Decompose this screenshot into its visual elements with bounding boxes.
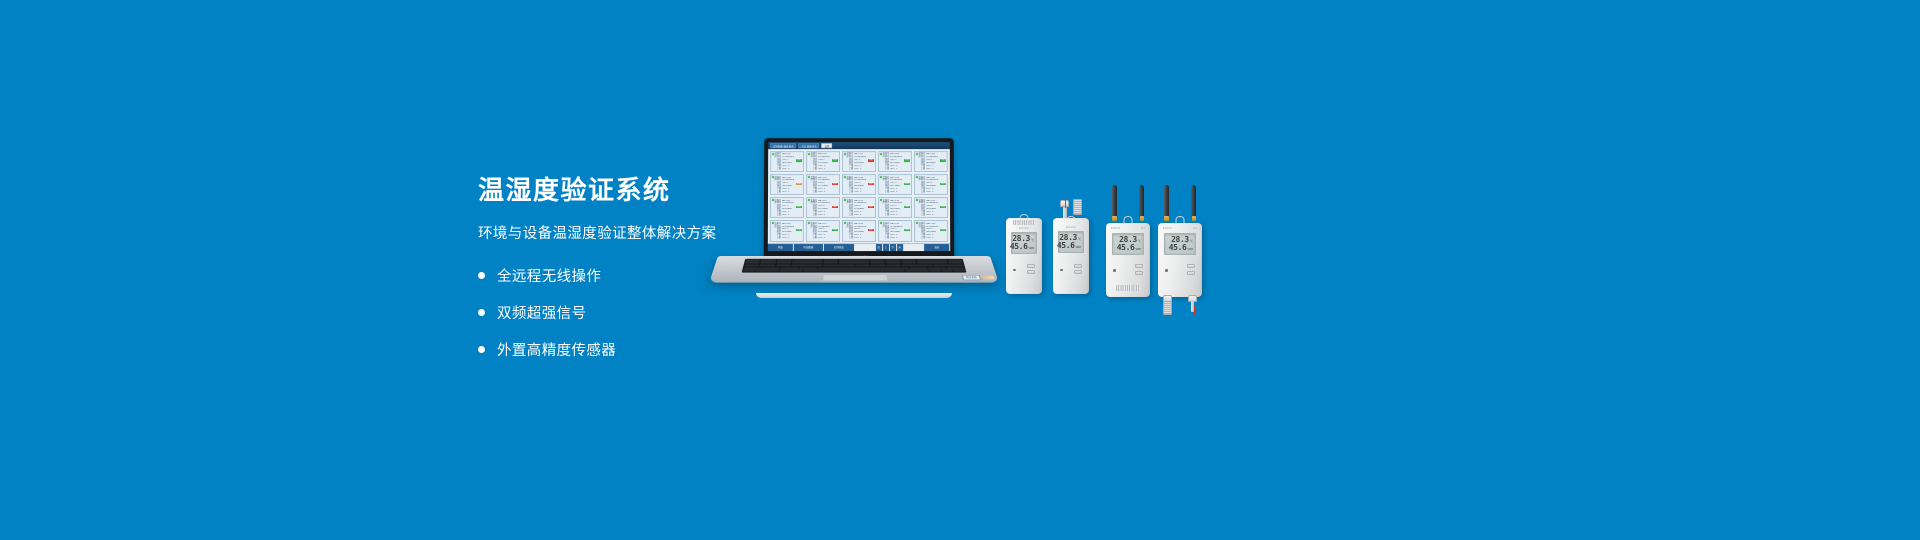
lcd-display: 28.3 ℃ 45.6 %RH — [1011, 232, 1037, 254]
antenna-left-icon — [1164, 185, 1169, 218]
logger-body: ENOIN 28.3 ℃ 45.6 %RH — [1053, 218, 1089, 294]
field-key: 上限 — [808, 237, 817, 240]
lcd-humidity-value: 45.6 — [1117, 244, 1135, 252]
keyboard-key[interactable] — [743, 270, 755, 272]
sensor-card[interactable]: 监测点20设备号HE-T120序列号1123400020温度23.9℃正常湿度4… — [914, 220, 949, 242]
lcd-temperature-unit: ℃ — [1138, 240, 1141, 243]
probe-wire — [1194, 305, 1195, 315]
sensor-card[interactable]: 监测点01设备号HE-T101序列号1123400001温度23.4℃正常湿度4… — [770, 151, 805, 173]
bullet-dot-icon — [478, 309, 485, 316]
device-button-up[interactable] — [1074, 264, 1082, 268]
device-wireless-logger-dual-antenna: ENOIN H3 28.3 ℃ 45.6 %RH — [1106, 185, 1150, 297]
device-button-group[interactable] — [1187, 264, 1195, 275]
field-value: 25.0 ℃ — [782, 168, 802, 171]
sensor-card-field: 上限25.0 ℃ — [844, 214, 874, 217]
vent-grille-icon — [1116, 285, 1140, 291]
lcd-humidity-unit: %RH — [1135, 248, 1140, 251]
field-key: 上限 — [916, 214, 925, 217]
sensor-card-field: 上限25.0 ℃ — [916, 191, 946, 194]
sensor-card-field: 上限25.0 ℃ — [844, 191, 874, 194]
sensor-card[interactable]: 监测点19设备号HE-T119序列号1123400019温度23.2℃正常湿度4… — [878, 220, 913, 242]
sensor-card-field: 上限25.0 ℃ — [772, 237, 802, 240]
device-data-logger-probe: ENOIN 28.3 ℃ 45.6 %RH — [1053, 198, 1089, 294]
lcd-humidity-unit: %RH — [1076, 246, 1081, 249]
antenna-right-icon — [1191, 185, 1196, 218]
laptop-front-lip — [756, 293, 952, 298]
lcd-temperature-unit: ℃ — [1031, 239, 1034, 242]
antenna-left-connector — [1112, 216, 1117, 221]
feature-label: 全远程无线操作 — [497, 265, 601, 286]
feature-label: 双频超强信号 — [497, 302, 586, 323]
device-button-up[interactable] — [1135, 264, 1143, 268]
field-key: 上限 — [772, 191, 781, 194]
device-button-group[interactable] — [1074, 264, 1082, 275]
field-key: 上限 — [844, 168, 853, 171]
sensor-card-field: 上限25.0 ℃ — [808, 168, 838, 171]
feature-label: 外置高精度传感器 — [497, 339, 616, 360]
field-value: 25.0 ℃ — [926, 214, 946, 217]
field-value: 25.0 ℃ — [926, 191, 946, 194]
device-data-logger-basic: ENOIN 28.3 ℃ 45.6 %RH — [1006, 218, 1042, 294]
lcd-display: 28.3 ℃ 45.6 %RH — [1058, 231, 1084, 253]
field-key: 上限 — [808, 191, 817, 194]
promo-banner: 温湿度验证系统 环境与设备温湿度验证整体解决方案 全远程无线操作 双频超强信号 … — [0, 0, 1920, 540]
laptop-screen: 实时数据 曲线 报表 历史 数据查询 设置 监测点01设备号HE-T101序列号… — [768, 142, 950, 251]
keyboard-row — [743, 270, 966, 272]
field-value: 25.0 ℃ — [854, 168, 874, 171]
lcd-humidity-row: 45.6 %RH — [1167, 244, 1193, 252]
sensor-card[interactable]: 监测点06设备号HE-T106序列号1123400006温度24.5℃预警湿度5… — [770, 174, 805, 196]
antenna-left-connector — [1164, 216, 1169, 221]
sensor-card[interactable]: 监测点07设备号HE-T107序列号1123400007温度23.3℃超限湿度4… — [806, 174, 841, 196]
bullet-dot-icon — [478, 272, 485, 279]
toolbar-export-button[interactable]: 导出数据 — [794, 244, 825, 251]
lcd-temperature-unit: ℃ — [1190, 240, 1193, 243]
page-prev-button[interactable]: 上 — [883, 244, 890, 251]
lcd-humidity-unit: %RH — [1187, 248, 1192, 251]
list-item: 双频超强信号 — [478, 302, 808, 323]
field-value: 25.0 ℃ — [890, 191, 910, 194]
field-key: 上限 — [844, 214, 853, 217]
keyboard-key[interactable] — [906, 270, 929, 272]
page-next-button[interactable]: 下 — [890, 244, 897, 251]
sensor-card[interactable]: 监测点08设备号HE-T108序列号1123400008温度23.9℃超限湿度4… — [842, 174, 877, 196]
laptop-keyboard[interactable] — [742, 259, 967, 273]
lcd-humidity-value: 45.6 — [1010, 243, 1028, 251]
app-toolbar: 开始 导出数据 打印报告 首 上 下 末 退出 — [768, 243, 950, 251]
field-value: 25.0 ℃ — [782, 191, 802, 194]
field-value: 25.0 ℃ — [782, 214, 802, 217]
device-label-row: ENOIN H3 — [1163, 227, 1197, 230]
field-value: 25.0 ℃ — [818, 191, 838, 194]
status-led-icon — [1113, 269, 1116, 272]
device-button-group[interactable] — [1135, 264, 1143, 275]
device-model: H3 — [1141, 227, 1145, 230]
sensor-card[interactable]: 监测点10设备号HE-T110序列号1123400010温度24.0℃正常湿度4… — [914, 174, 949, 196]
device-brand: ENOIN — [1019, 227, 1029, 230]
field-value: 25.0 ℃ — [926, 237, 946, 240]
sensor-card-field: 上限25.0 ℃ — [844, 168, 874, 171]
toolbar-spacer — [904, 244, 925, 251]
probe-mesh-filter — [1163, 301, 1172, 315]
app-titlebar: 实时数据 曲线 报表 历史 数据查询 设置 — [768, 142, 950, 149]
sensor-card-field: 上限25.0 ℃ — [772, 214, 802, 217]
antenna-right-icon — [1139, 185, 1144, 218]
laptop-product-image: 实时数据 曲线 报表 历史 数据查询 设置 监测点01设备号HE-T101序列号… — [718, 138, 990, 298]
tab-realtime[interactable]: 实时数据 曲线 报表 — [770, 143, 796, 148]
keyboard-key[interactable] — [941, 270, 953, 272]
antenna-right-connector — [1140, 216, 1145, 221]
laptop-trackpad[interactable] — [822, 274, 888, 281]
device-wireless-logger-dual-antenna-probe: ENOIN H3 28.3 ℃ 45.6 %RH — [1158, 185, 1202, 315]
keyboard-key[interactable] — [954, 270, 966, 272]
device-button-down[interactable] — [1135, 271, 1143, 275]
laptop-lid: 实时数据 曲线 报表 历史 数据查询 设置 监测点01设备号HE-T101序列号… — [764, 138, 955, 260]
toolbar-exit-button[interactable]: 退出 — [924, 244, 950, 251]
sensor-card[interactable]: 监测点11设备号HE-T111序列号1123400011温度23.7℃正常湿度4… — [769, 197, 804, 219]
field-key: 上限 — [844, 191, 853, 194]
device-label-row: ENOIN H3 — [1111, 227, 1145, 230]
field-value: 25.0 ℃ — [818, 168, 838, 171]
logger-body: ENOIN H3 28.3 ℃ 45.6 %RH — [1158, 223, 1202, 297]
sensor-card-field: 上限25.0 ℃ — [808, 214, 838, 217]
keyboard-key[interactable] — [767, 270, 779, 272]
device-button-group[interactable] — [1027, 264, 1035, 275]
status-led-icon — [1013, 269, 1016, 272]
sensor-card[interactable]: 监测点17设备号HE-T117序列号1123400017温度23.4℃正常湿度4… — [805, 220, 840, 242]
tab-settings[interactable]: 设置 — [822, 143, 833, 148]
sensor-card-field: 上限25.0 ℃ — [808, 237, 838, 240]
keyboard-key[interactable] — [929, 270, 941, 272]
probe-wire — [1065, 199, 1066, 208]
sensor-card[interactable]: 监测点18设备号HE-T118序列号1123400018温度24.6℃超限湿度5… — [842, 220, 877, 242]
lcd-humidity-unit: %RH — [1029, 247, 1034, 250]
probe-mesh-filter — [1073, 199, 1082, 215]
sensor-card[interactable]: 监测点15设备号HE-T115序列号1123400015温度23.8℃正常湿度4… — [914, 197, 949, 219]
field-value: 25.0 ℃ — [890, 168, 910, 171]
list-item: 外置高精度传感器 — [478, 339, 808, 360]
sensor-card[interactable]: 监测点14设备号HE-T114序列号1123400014温度23.0℃正常湿度4… — [878, 197, 913, 219]
field-value: 25.0 ℃ — [890, 237, 910, 240]
device-button-down[interactable] — [1187, 271, 1195, 275]
lcd-humidity-row: 45.6 %RH — [1115, 244, 1141, 252]
device-button-down[interactable] — [1074, 270, 1082, 274]
field-key: 上限 — [916, 168, 925, 171]
field-value: 25.0 ℃ — [926, 168, 946, 171]
toolbar-spacer — [855, 244, 876, 251]
antenna-left-icon — [1112, 185, 1117, 218]
tab-history[interactable]: 历史 数据查询 — [799, 143, 820, 148]
device-brand: ENOIN — [1066, 226, 1076, 229]
sensor-card-field: 上限25.0 ℃ — [916, 237, 946, 240]
sensor-card-field: 上限25.0 ℃ — [772, 168, 802, 171]
sensor-card[interactable]: 监测点05设备号HE-T105序列号1123400005温度23.8℃正常湿度4… — [914, 151, 949, 173]
field-key: 上限 — [772, 168, 781, 171]
keyboard-key[interactable] — [803, 270, 905, 272]
device-button-up[interactable] — [1027, 264, 1035, 268]
sensor-card-field: 上限25.0 ℃ — [808, 191, 838, 194]
field-key: 上限 — [808, 168, 817, 171]
logger-body: ENOIN H3 28.3 ℃ 45.6 %RH — [1106, 223, 1150, 297]
vent-grille-icon — [1013, 220, 1035, 225]
field-value: 25.0 ℃ — [782, 237, 802, 240]
toolbar-start-button[interactable]: 开始 — [768, 244, 794, 251]
keyboard-key[interactable] — [755, 270, 767, 272]
sensor-card-field: 上限25.0 ℃ — [772, 191, 802, 194]
sensor-card-field: 上限25.0 ℃ — [880, 168, 910, 171]
device-brand: ENOIN — [1111, 227, 1121, 230]
field-key: 上限 — [844, 237, 853, 240]
lcd-display: 28.3 ℃ 45.6 %RH — [1112, 233, 1144, 255]
field-key: 上限 — [916, 237, 925, 240]
laptop-base: 验证系统 — [709, 256, 999, 283]
sensor-card[interactable]: 监测点13设备号HE-T113序列号1123400013温度23.5℃超限湿度4… — [842, 197, 877, 219]
field-key: 上限 — [772, 237, 781, 240]
page-first-button[interactable]: 首 — [876, 244, 883, 251]
lcd-temperature-unit: ℃ — [1078, 238, 1081, 241]
field-key: 上限 — [880, 214, 889, 217]
laptop-sticker-secondary — [982, 276, 995, 280]
hanging-hook-icon — [1176, 216, 1185, 223]
page-last-button[interactable]: 末 — [897, 244, 904, 251]
logger-body: ENOIN 28.3 ℃ 45.6 %RH — [1006, 218, 1042, 294]
field-key: 上限 — [808, 214, 817, 217]
sensor-card[interactable]: 监测点09设备号HE-T109序列号1123400009温度23.1℃正常湿度4… — [878, 174, 913, 196]
keyboard-key[interactable] — [779, 270, 802, 272]
lcd-humidity-value: 45.6 — [1169, 244, 1187, 252]
sensor-card[interactable]: 监测点03设备号HE-T103序列号1123400003温度24.1℃超限湿度4… — [842, 151, 877, 173]
sensor-card-field: 上限25.0 ℃ — [916, 214, 946, 217]
sensor-card-field: 上限25.0 ℃ — [844, 237, 874, 240]
sensor-card-grid: 监测点01设备号HE-T101序列号1123400001温度23.4℃正常湿度4… — [768, 149, 950, 243]
field-value: 25.0 ℃ — [854, 191, 874, 194]
lcd-display: 28.3 ℃ 45.6 %RH — [1164, 233, 1196, 255]
sensor-card[interactable]: 监测点02设备号HE-T102序列号1123400002温度23.6℃正常湿度4… — [806, 151, 841, 173]
field-value: 25.0 ℃ — [818, 237, 838, 240]
antenna-right-connector — [1192, 216, 1197, 221]
field-key: 上限 — [916, 191, 925, 194]
field-key: 上限 — [880, 237, 889, 240]
status-led-icon — [1060, 269, 1063, 272]
sensor-card[interactable]: 监测点04设备号HE-T104序列号1123400004温度23.2℃正常湿度4… — [878, 151, 913, 173]
bullet-dot-icon — [478, 346, 485, 353]
field-key: 上限 — [880, 168, 889, 171]
lcd-humidity-value: 45.6 — [1057, 242, 1075, 250]
device-button-down[interactable] — [1027, 270, 1035, 274]
sensor-card-field: 上限25.0 ℃ — [916, 168, 946, 171]
laptop-sticker: 验证系统 — [962, 275, 981, 280]
status-led-icon — [1165, 269, 1168, 272]
sensor-card[interactable]: 监测点16设备号HE-T116序列号1123400016温度24.2℃正常湿度4… — [769, 220, 804, 242]
sensor-card-field: 上限25.0 ℃ — [880, 191, 910, 194]
sensor-card-field: 上限25.0 ℃ — [880, 237, 910, 240]
field-value: 25.0 ℃ — [890, 214, 910, 217]
sensor-card[interactable]: 监测点12设备号HE-T112序列号1123400012温度24.3℃超限湿度5… — [805, 197, 840, 219]
field-key: 上限 — [772, 214, 781, 217]
hanging-hook-icon — [1124, 216, 1133, 223]
field-value: 25.0 ℃ — [818, 214, 838, 217]
toolbar-print-button[interactable]: 打印报告 — [824, 244, 855, 251]
sensor-card-field: 上限25.0 ℃ — [880, 214, 910, 217]
field-value: 25.0 ℃ — [854, 237, 874, 240]
lcd-humidity-row: 45.6 %RH — [1061, 242, 1081, 250]
field-key: 上限 — [880, 191, 889, 194]
device-model: H3 — [1193, 227, 1197, 230]
field-value: 25.0 ℃ — [854, 214, 874, 217]
device-brand: ENOIN — [1163, 227, 1173, 230]
lcd-humidity-row: 45.6 %RH — [1014, 243, 1034, 251]
device-button-up[interactable] — [1187, 264, 1195, 268]
